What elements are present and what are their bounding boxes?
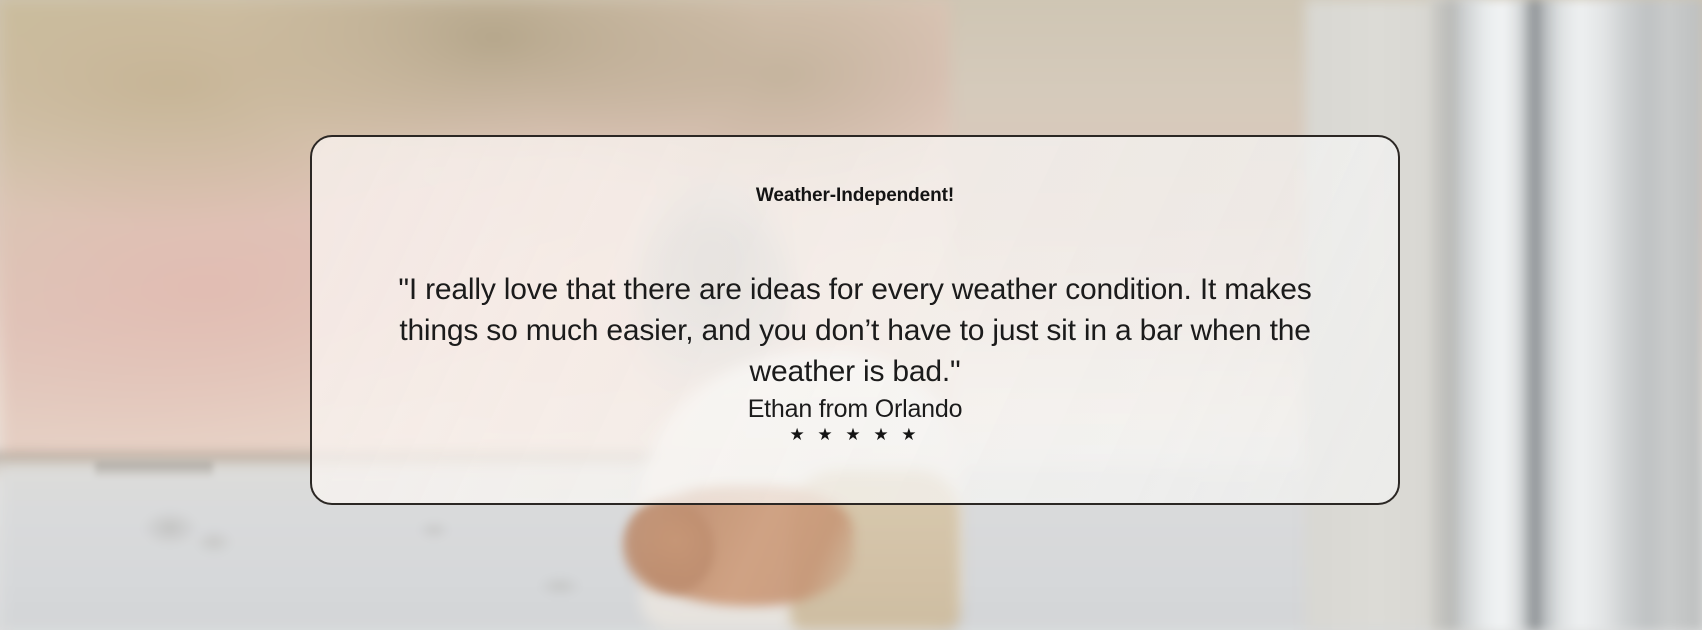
- star-rating: ★ ★ ★ ★ ★: [789, 426, 920, 443]
- testimonial-scene: Weather-Independent! "I really love that…: [0, 0, 1702, 630]
- testimonial-attribution: Ethan from Orlando ★ ★ ★ ★ ★: [748, 395, 963, 443]
- testimonial-card: Weather-Independent! "I really love that…: [310, 135, 1400, 505]
- background-frame-latch: [95, 462, 213, 476]
- testimonial-author: Ethan from Orlando: [748, 395, 963, 424]
- background-window-frame: [1430, 0, 1702, 630]
- testimonial-headline: Weather-Independent!: [756, 185, 954, 207]
- testimonial-quote: "I really love that there are ideas for …: [356, 269, 1354, 392]
- background-person-hand: [622, 500, 714, 596]
